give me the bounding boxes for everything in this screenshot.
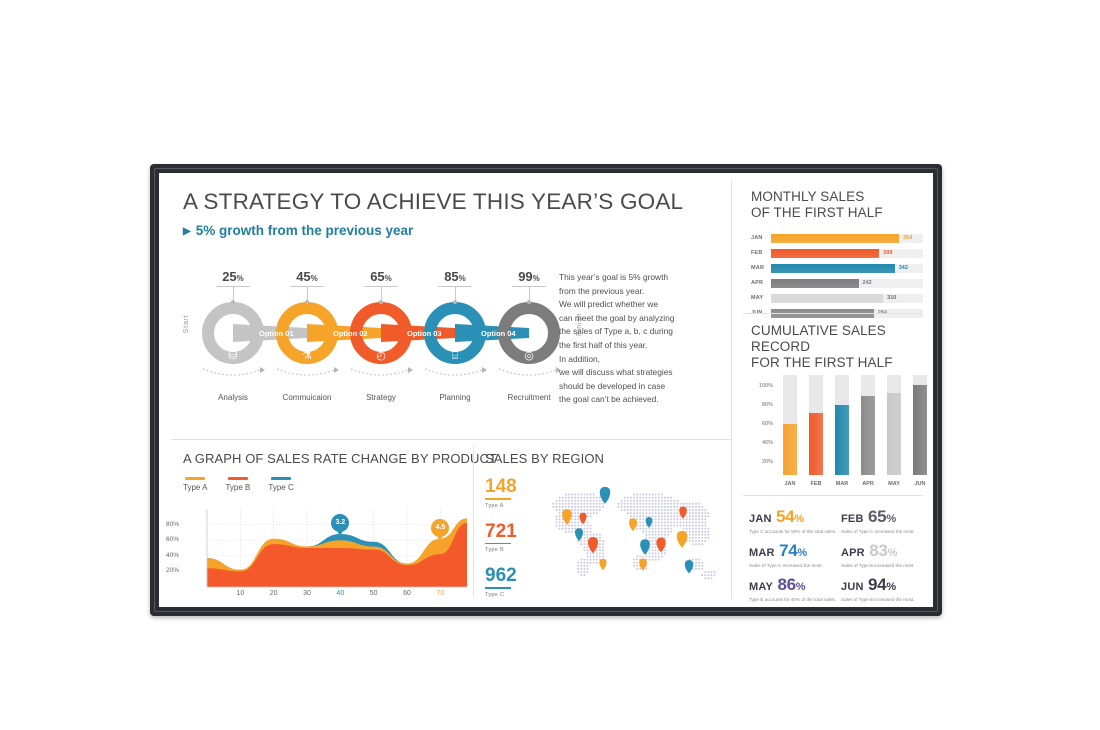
monthly-bar-label: APR xyxy=(751,280,771,286)
process-option-label: Option 03 xyxy=(407,329,442,338)
percent-unit: % xyxy=(459,274,466,283)
y-tick-label: 60% xyxy=(159,536,179,543)
sales-rate-title: A GRAPH OF SALES RATE CHANGE BY PRODUCT xyxy=(183,451,497,466)
narrative-line: This year’s goal is 5% growth xyxy=(559,271,699,285)
month-stat-caption: Sales of Type C increased the most. xyxy=(749,563,837,570)
triangle-marker-icon: ▶ xyxy=(183,226,191,237)
money-bag-icon: ⛁ xyxy=(228,349,237,362)
process-step-label: Strategy xyxy=(346,393,416,402)
legend-item: Type A xyxy=(183,477,207,492)
narrative-line: the sales of Type a, b, c during xyxy=(559,325,699,339)
svg-text:⛁: ⛁ xyxy=(228,349,237,362)
legend-swatch xyxy=(271,477,291,480)
svg-text:◴: ◴ xyxy=(376,349,386,362)
x-tick-label: 30 xyxy=(298,590,316,597)
legend-swatch xyxy=(228,477,248,480)
monthly-bar-track: 342 xyxy=(771,264,923,273)
process-option-label: Option 01 xyxy=(259,329,294,338)
callout-value: 4.5 xyxy=(435,524,445,531)
sales-rate-area-chart xyxy=(179,503,471,601)
monthly-bar-label: MAY xyxy=(751,295,771,301)
narrative-line: We will predict whether we xyxy=(559,298,699,312)
process-arrow-head xyxy=(408,367,413,373)
percent-dot xyxy=(379,300,383,304)
monthly-sales-title: MONTHLY SALES OF THE FIRST HALF xyxy=(751,189,923,221)
narrative-line: from the previous year. xyxy=(559,285,699,299)
narrative-text: This year’s goal is 5% growthfrom the pr… xyxy=(559,271,699,407)
month-stat-month: JUN xyxy=(841,581,864,593)
region-stats: 148Type A721Type B962Type C xyxy=(485,477,517,607)
percent-stem xyxy=(529,287,530,301)
cumulative-bar-fill xyxy=(809,413,823,475)
bottom-panel-divider xyxy=(473,445,474,597)
month-stat-unit: % xyxy=(797,547,806,559)
x-tick-label: 20 xyxy=(265,590,283,597)
page-title: A STRATEGY TO ACHIEVE THIS YEAR’S GOAL xyxy=(183,189,683,215)
monthly-bar-row[interactable]: APR242 xyxy=(751,278,923,289)
cumulative-bar-fill xyxy=(887,393,901,475)
process-percent: 65% xyxy=(359,269,403,284)
monthly-sales-bars: JAN354FEB299MAR342APR242MAY310JUN284 xyxy=(751,233,923,319)
world-map xyxy=(537,475,727,598)
cumulative-bar-track[interactable] xyxy=(809,375,823,475)
process-arrow xyxy=(351,369,411,375)
monthly-bar-value: 354 xyxy=(903,235,912,241)
month-stat-value: 74% xyxy=(775,541,807,560)
map-pin[interactable] xyxy=(629,518,637,531)
narrative-line: we will discuss what strategies xyxy=(559,366,699,380)
map-pin[interactable] xyxy=(600,487,610,504)
process-chain-diagram: Start Finish ⛁⚗◴⌸◎ Option 01Option 02Opt… xyxy=(181,269,581,409)
chart-callout-pin[interactable]: 4.5 xyxy=(431,519,449,537)
region-stat: 962Type C xyxy=(485,566,517,598)
cumulative-x-tick: FEB xyxy=(805,481,827,487)
bulb-icon: ◎ xyxy=(524,349,534,362)
percent-dot xyxy=(231,300,235,304)
cumulative-x-tick: JAN xyxy=(779,481,801,487)
month-stat-value: 86% xyxy=(773,575,805,594)
percent-dot xyxy=(305,300,309,304)
narrative-line: In addition, xyxy=(559,353,699,367)
percent-value: 45 xyxy=(296,269,310,284)
cumulative-bar-fill xyxy=(835,405,849,475)
monthly-bar-track: 299 xyxy=(771,249,923,258)
percent-dot xyxy=(527,300,531,304)
clock-icon: ◴ xyxy=(376,349,386,362)
region-stat-label: Type B xyxy=(485,547,517,553)
process-step-label: Analysis xyxy=(198,393,268,402)
region-stat-value: 148 xyxy=(485,477,517,496)
region-stat: 148Type A xyxy=(485,477,517,509)
legend-item: Type B xyxy=(225,477,250,492)
sales-rate-panel: A GRAPH OF SALES RATE CHANGE BY PRODUCT … xyxy=(171,451,471,601)
right-column-divider xyxy=(731,181,732,599)
percent-value: 65 xyxy=(370,269,384,284)
monthly-sales-panel: MONTHLY SALES OF THE FIRST HALF JAN354FE… xyxy=(751,189,923,323)
monitor-bezel: A STRATEGY TO ACHIEVE THIS YEAR’S GOAL ▶… xyxy=(150,164,942,616)
callout-tail xyxy=(437,536,443,541)
month-stat-month: APR xyxy=(841,547,865,559)
right-column: MONTHLY SALES OF THE FIRST HALF JAN354FE… xyxy=(731,173,933,607)
monthly-bar-label: JAN xyxy=(751,235,771,241)
percent-unit: % xyxy=(237,274,244,283)
cumulative-y-tick: 20% xyxy=(753,459,773,465)
month-stat-caption: Type C accounts for 50% of the total sal… xyxy=(749,529,837,536)
month-stat-caption: Sales of Type B increased the most. xyxy=(841,597,929,604)
monthly-bar-fill xyxy=(771,294,883,303)
cumulative-bar-fill xyxy=(861,396,875,475)
map-pin[interactable] xyxy=(677,531,687,548)
month-stat-month: FEB xyxy=(841,513,864,525)
callout-tail xyxy=(337,531,343,536)
process-start-label: Start xyxy=(181,315,190,333)
month-stat-card[interactable]: JUN 94%Sales of Type B increased the mos… xyxy=(841,575,929,604)
page-subtitle: ▶5% growth from the previous year xyxy=(183,223,413,238)
database-icon: ⌸ xyxy=(452,349,459,362)
cumulative-bar-fill xyxy=(913,385,927,475)
cumulative-panel: CUMULATIVE SALES RECORD FOR THE FIRST HA… xyxy=(751,323,923,371)
region-stat-rule xyxy=(485,543,511,545)
legend-swatch xyxy=(185,477,205,480)
month-stat-caption: Sales of Type B increased the most. xyxy=(841,563,929,570)
x-tick-label: 40 xyxy=(331,590,349,597)
month-stat-card[interactable]: FEB 65%Sales of Type C increased the mos… xyxy=(841,507,929,536)
flask-icon: ⚗ xyxy=(302,349,312,362)
monthly-bar-row[interactable]: FEB299 xyxy=(751,248,923,259)
percent-stem xyxy=(307,287,308,301)
cumulative-y-tick: 60% xyxy=(753,421,773,427)
callout-value: 3.2 xyxy=(335,519,345,526)
map-pin[interactable] xyxy=(640,539,650,555)
monthly-bar-fill xyxy=(771,234,899,243)
cumulative-bar-track[interactable] xyxy=(861,375,875,475)
percent-stem xyxy=(455,287,456,301)
process-percent: 25% xyxy=(211,269,255,284)
month-stat-unit: % xyxy=(888,547,897,559)
svg-text:⌸: ⌸ xyxy=(452,349,459,362)
sales-rate-legend: Type AType BType C xyxy=(183,477,294,492)
y-tick-label: 20% xyxy=(159,567,179,574)
monthly-bar-value: 310 xyxy=(887,295,896,301)
narrative-line: should be developed in case xyxy=(559,380,699,394)
month-stat-headline: APR 83% xyxy=(841,541,929,561)
month-stat-caption: Type B accounts for 40% of the total sal… xyxy=(749,597,837,604)
monthly-bar-row[interactable]: JAN354 xyxy=(751,233,923,244)
monthly-bar-label: MAR xyxy=(751,265,771,271)
percent-value: 85 xyxy=(444,269,458,284)
process-arrow-head xyxy=(482,367,487,373)
narrative-line: the goal can’t be achieved. xyxy=(559,393,699,407)
legend-item: Type C xyxy=(268,477,293,492)
region-stat-rule xyxy=(485,498,511,500)
cumulative-x-tick: JUN xyxy=(909,481,931,487)
month-stat-value: 83% xyxy=(865,541,897,560)
percent-value: 99 xyxy=(518,269,532,284)
monthly-bar-label: FEB xyxy=(751,250,771,256)
percent-stem xyxy=(381,287,382,301)
percent-unit: % xyxy=(311,274,318,283)
process-percent: 99% xyxy=(507,269,551,284)
percent-dot xyxy=(453,300,457,304)
process-percent: 45% xyxy=(285,269,329,284)
cumulative-title: CUMULATIVE SALES RECORD FOR THE FIRST HA… xyxy=(751,323,923,371)
monthly-bar-value: 299 xyxy=(883,250,892,256)
left-horizontal-divider xyxy=(171,439,731,440)
month-stat-caption: Sales of Type C increased the most. xyxy=(841,529,929,536)
region-panel: SALES BY REGION 148Type A721Type B962Typ… xyxy=(477,451,731,601)
process-option-label: Option 02 xyxy=(333,329,368,338)
cumulative-bar-chart: 100%80%60%40%20%JANFEBMARAPRMAYJUN xyxy=(753,369,921,487)
month-stat-headline: MAR 74% xyxy=(749,541,837,561)
x-tick-label: 70 xyxy=(431,590,449,597)
process-arrow xyxy=(277,369,337,375)
y-tick-label: 80% xyxy=(159,521,179,528)
process-step-label: Recruitment xyxy=(494,393,564,402)
process-arrow xyxy=(203,369,263,375)
monthly-bar-fill xyxy=(771,264,895,273)
process-arrow xyxy=(425,369,485,375)
y-tick-label: 40% xyxy=(159,552,179,559)
legend-label: Type C xyxy=(268,483,293,492)
region-stat: 721Type B xyxy=(485,522,517,554)
svg-text:⚗: ⚗ xyxy=(302,349,312,362)
percent-unit: % xyxy=(385,274,392,283)
monthly-bar-track: 310 xyxy=(771,294,923,303)
month-stat-headline: MAY 86% xyxy=(749,575,837,595)
month-stat-value: 54% xyxy=(772,507,804,526)
cumulative-x-tick: MAY xyxy=(883,481,905,487)
left-column: A STRATEGY TO ACHIEVE THIS YEAR’S GOAL ▶… xyxy=(159,173,731,607)
region-stat-label: Type A xyxy=(485,503,517,509)
x-tick-label: 50 xyxy=(365,590,383,597)
cumulative-bar-track[interactable] xyxy=(783,375,797,475)
region-stat-value: 962 xyxy=(485,566,517,585)
month-stat-unit: % xyxy=(796,581,805,593)
page-subtitle-text: 5% growth from the previous year xyxy=(196,223,414,238)
map-pin[interactable] xyxy=(575,528,583,541)
process-arrow-head xyxy=(260,367,265,373)
narrative-line: the first half of this year. xyxy=(559,339,699,353)
narrative-line: can meet the goal by analyzing xyxy=(559,312,699,326)
map-pin[interactable] xyxy=(599,559,606,570)
month-stat-value: 94% xyxy=(864,575,896,594)
month-stat-unit: % xyxy=(886,581,895,593)
month-stat-month: MAR xyxy=(749,547,775,559)
percent-value: 25 xyxy=(222,269,236,284)
monthly-bar-value: 242 xyxy=(863,280,872,286)
monthly-bar-track: 242 xyxy=(771,279,923,288)
monthly-bar-fill xyxy=(771,279,859,288)
cumulative-bar-fill xyxy=(783,424,797,475)
month-stat-card[interactable]: MAY 86%Type B accounts for 40% of the to… xyxy=(749,575,837,604)
cumulative-bar-track[interactable] xyxy=(835,375,849,475)
x-tick-label: 10 xyxy=(231,590,249,597)
percent-stem xyxy=(233,287,234,301)
month-stat-month: JAN xyxy=(749,513,772,525)
monthly-bar-row[interactable]: MAR342 xyxy=(751,263,923,274)
process-step-label: Commuicaion xyxy=(272,393,342,402)
month-stat-headline: FEB 65% xyxy=(841,507,929,527)
month-stat-value: 65% xyxy=(864,507,896,526)
process-arrow-head xyxy=(334,367,339,373)
process-step-label: Planning xyxy=(420,393,490,402)
region-title: SALES BY REGION xyxy=(485,451,604,466)
svg-text:◎: ◎ xyxy=(524,349,534,362)
month-stat-unit: % xyxy=(794,513,803,525)
map-pin[interactable] xyxy=(685,560,693,574)
region-stat-rule xyxy=(485,587,511,589)
cumulative-x-tick: MAR xyxy=(831,481,853,487)
cumulative-y-tick: 40% xyxy=(753,440,773,446)
cumulative-y-tick: 100% xyxy=(753,383,773,389)
screen: A STRATEGY TO ACHIEVE THIS YEAR’S GOAL ▶… xyxy=(159,173,933,607)
month-stat-month: MAY xyxy=(749,581,773,593)
region-stat-label: Type C xyxy=(485,592,517,598)
monthly-bar-value: 342 xyxy=(899,265,908,271)
screenshot-stage: A STRATEGY TO ACHIEVE THIS YEAR’S GOAL ▶… xyxy=(0,0,1100,730)
monthly-bar-track: 354 xyxy=(771,234,923,243)
x-tick-label: 60 xyxy=(398,590,416,597)
legend-label: Type A xyxy=(183,483,207,492)
cumulative-x-tick: APR xyxy=(857,481,879,487)
month-stat-card[interactable]: JAN 54%Type C accounts for 50% of the to… xyxy=(749,507,837,536)
region-stat-value: 721 xyxy=(485,522,517,541)
process-percent: 85% xyxy=(433,269,477,284)
right-divider-2 xyxy=(743,495,923,496)
process-option-label: Option 04 xyxy=(481,329,516,338)
month-stat-headline: JAN 54% xyxy=(749,507,837,527)
month-stat-unit: % xyxy=(886,513,895,525)
monthly-bar-row[interactable]: MAY310 xyxy=(751,293,923,304)
cumulative-bar-track[interactable] xyxy=(913,375,927,475)
month-stat-card[interactable]: MAR 74%Sales of Type C increased the mos… xyxy=(749,541,837,570)
right-divider-1 xyxy=(743,313,923,314)
percent-unit: % xyxy=(533,274,540,283)
monthly-bar-fill xyxy=(771,249,879,258)
process-arrow xyxy=(499,369,559,375)
cumulative-y-tick: 80% xyxy=(753,402,773,408)
cumulative-bar-track[interactable] xyxy=(887,375,901,475)
month-stat-card[interactable]: APR 83%Sales of Type B increased the mos… xyxy=(841,541,929,570)
legend-label: Type B xyxy=(225,483,250,492)
month-stat-headline: JUN 94% xyxy=(841,575,929,595)
